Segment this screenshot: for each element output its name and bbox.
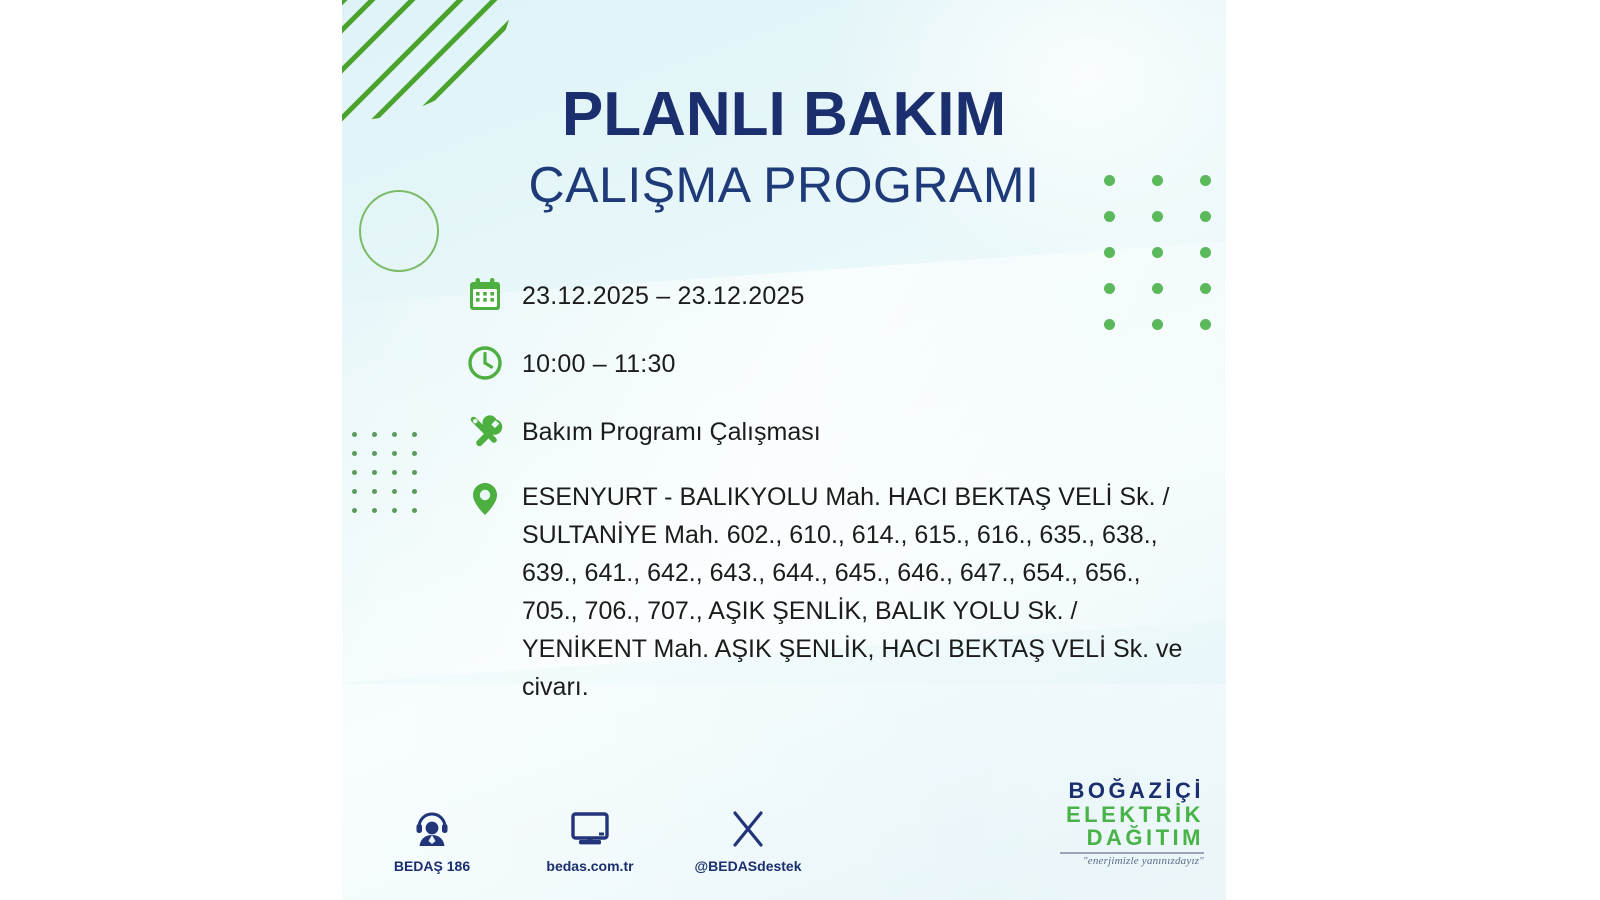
contact-label: BEDAŞ 186 (394, 858, 470, 874)
dot (412, 508, 417, 513)
contact-website[interactable]: bedas.com.tr (534, 804, 646, 874)
dot (372, 451, 377, 456)
dot (412, 451, 417, 456)
page-title: PLANLI BAKIM (342, 84, 1226, 146)
dot (412, 432, 417, 437)
footer-contact-group: BEDAŞ 186 bedas.com.tr (376, 804, 804, 874)
dot (1152, 211, 1163, 222)
dot (412, 489, 417, 494)
brand-line-bogazici: BOĞAZİÇİ (1060, 779, 1204, 802)
page-subtitle: ÇALIŞMA PROGRAMI (342, 160, 1226, 210)
poster-heading-group: PLANLI BAKIM ÇALIŞMA PROGRAMI (342, 84, 1226, 210)
x-twitter-icon (727, 804, 769, 850)
maintenance-details: 23.12.2025 – 23.12.2025 10:00 – 11:30 (462, 272, 1202, 706)
dot (1104, 211, 1115, 222)
dot (1200, 247, 1211, 258)
map-pin-icon (462, 476, 508, 522)
brand-divider (1060, 852, 1204, 854)
brand-tagline: "enerjimizle yanınızdayız" (1060, 856, 1204, 868)
dot (1104, 247, 1115, 258)
dot (352, 451, 357, 456)
detail-row-time: 10:00 – 11:30 (462, 340, 1202, 386)
dot (372, 470, 377, 475)
dot (1152, 247, 1163, 258)
contact-call-center[interactable]: BEDAŞ 186 (376, 804, 488, 874)
contact-x-account[interactable]: @BEDASdestek (692, 804, 804, 874)
dot (392, 470, 397, 475)
dot (392, 508, 397, 513)
contact-label: bedas.com.tr (546, 858, 633, 874)
dot (392, 451, 397, 456)
dot (1200, 211, 1211, 222)
detail-row-date: 23.12.2025 – 23.12.2025 (462, 272, 1202, 318)
bedas-brand-logo: BOĞAZİÇİ ELEKTRİK DAĞITIM "enerjimizle y… (1060, 779, 1204, 868)
dot (352, 508, 357, 513)
date-range-text: 23.12.2025 – 23.12.2025 (522, 272, 805, 315)
calendar-icon (462, 272, 508, 318)
dot (392, 489, 397, 494)
work-type-text: Bakım Programı Çalışması (522, 408, 821, 451)
dot (352, 470, 357, 475)
dot-grid-decoration-left (352, 432, 432, 527)
time-range-text: 10:00 – 11:30 (522, 340, 676, 383)
location-text: ESENYURT - BALIKYOLU Mah. HACI BEKTAŞ VE… (522, 476, 1202, 706)
dot (392, 432, 397, 437)
contact-label: @BEDASdestek (694, 858, 801, 874)
dot (412, 470, 417, 475)
screenshot-canvas: PLANLI BAKIM ÇALIŞMA PROGRAMI (0, 0, 1600, 900)
brand-line-dagitim: DAĞITIM (1060, 826, 1204, 849)
brand-line-elektrik: ELEKTRİK (1060, 803, 1204, 826)
clock-icon (462, 340, 508, 386)
tools-icon (462, 408, 508, 454)
headset-operator-icon (411, 804, 453, 850)
dot (372, 432, 377, 437)
detail-row-location: ESENYURT - BALIKYOLU Mah. HACI BEKTAŞ VE… (462, 476, 1202, 706)
dot (352, 489, 357, 494)
dot (352, 432, 357, 437)
detail-row-work-type: Bakım Programı Çalışması (462, 408, 1202, 454)
planned-maintenance-poster: PLANLI BAKIM ÇALIŞMA PROGRAMI (342, 0, 1226, 900)
dot (372, 508, 377, 513)
dot (372, 489, 377, 494)
monitor-icon (569, 804, 611, 850)
